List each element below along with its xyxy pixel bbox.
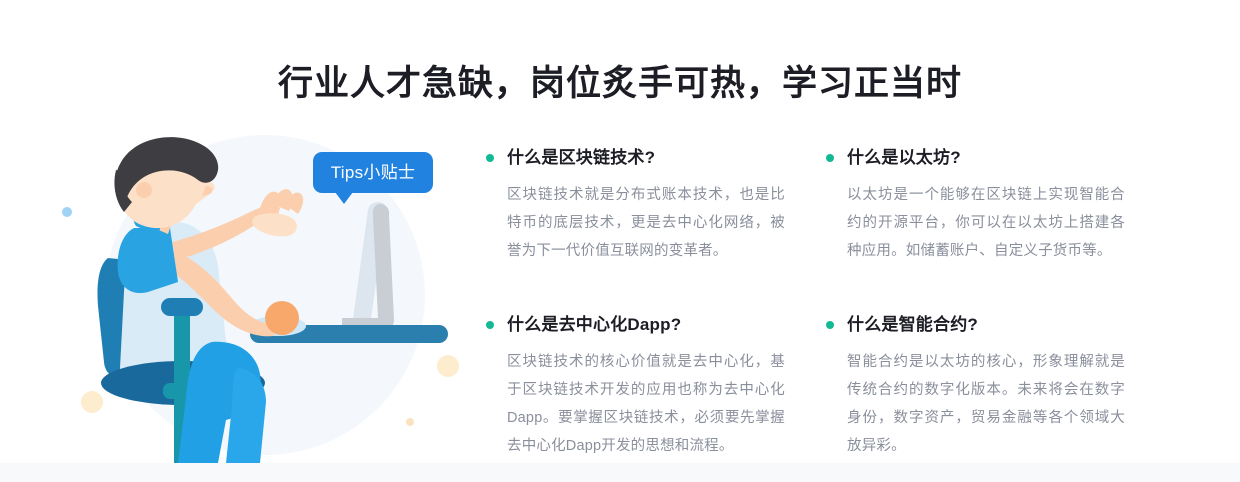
tips-bubble: Tips小贴士 <box>313 152 433 193</box>
faq-question-text: 什么是区块链技术? <box>507 148 655 167</box>
decorative-dot-cream-right <box>437 355 459 377</box>
faq-question: 什么是去中心化Dapp? <box>485 313 785 337</box>
faq-question: 什么是智能合约? <box>825 313 1125 337</box>
tips-bubble-tail <box>335 192 353 204</box>
page-root: 行业人才急缺，岗位炙手可热，学习正当时 <box>0 0 1240 482</box>
mouse-hand <box>265 301 299 335</box>
faq-question-text: 什么是去中心化Dapp? <box>507 315 681 334</box>
faq-question-text: 什么是智能合约? <box>847 315 978 334</box>
decorative-dot-cream-small <box>406 418 414 426</box>
person-sleeve <box>118 228 178 293</box>
faq-question: 什么是区块链技术? <box>485 146 785 170</box>
faq-question: 什么是以太坊? <box>825 146 1125 170</box>
faq-column-left: 什么是区块链技术? 区块链技术就是分布式账本技术，也是比特币的底层技术，更是去中… <box>485 146 785 460</box>
chair-post-top <box>161 298 203 316</box>
faq-answer: 区块链技术就是分布式账本技术，也是比特币的底层技术，更是去中心化网络，被誉为下一… <box>485 181 785 265</box>
page-title: 行业人才急缺，岗位炙手可热，学习正当时 <box>0 60 1240 108</box>
faq-item-dapp: 什么是去中心化Dapp? 区块链技术的核心价值就是去中心化，基于区块链技术开发的… <box>485 313 785 460</box>
faq-answer: 区块链技术的核心价值就是去中心化，基于区块链技术开发的应用也称为去中心化Dapp… <box>485 348 785 460</box>
person-ear <box>136 182 152 198</box>
faq-answer: 智能合约是以太坊的核心，形象理解就是传统合约的数字化版本。未来将会在数字身份，数… <box>825 348 1125 460</box>
tips-bubble-label: Tips小贴士 <box>331 163 416 182</box>
bullet-dot-icon <box>486 321 494 329</box>
bullet-dot-icon <box>486 154 494 162</box>
bottom-band <box>0 463 1240 482</box>
bullet-dot-icon <box>826 154 834 162</box>
bullet-dot-icon <box>826 321 834 329</box>
faq-column-right: 什么是以太坊? 以太坊是一个能够在区块链上实现智能合约的开源平台，你可以在以太坊… <box>825 146 1125 460</box>
decorative-dot-cream-left <box>81 391 103 413</box>
faq-item-blockchain-tech: 什么是区块链技术? 区块链技术就是分布式账本技术，也是比特币的底层技术，更是去中… <box>485 146 785 265</box>
faq-answer: 以太坊是一个能够在区块链上实现智能合约的开源平台，你可以在以太坊上搭建各种应用。… <box>825 181 1125 265</box>
faq-item-ethereum: 什么是以太坊? 以太坊是一个能够在区块链上实现智能合约的开源平台，你可以在以太坊… <box>825 146 1125 265</box>
faq-item-smart-contract: 什么是智能合约? 智能合约是以太坊的核心，形象理解就是传统合约的数字化版本。未来… <box>825 313 1125 460</box>
decorative-dot-blue-left <box>62 207 72 217</box>
faq-question-text: 什么是以太坊? <box>847 148 961 167</box>
